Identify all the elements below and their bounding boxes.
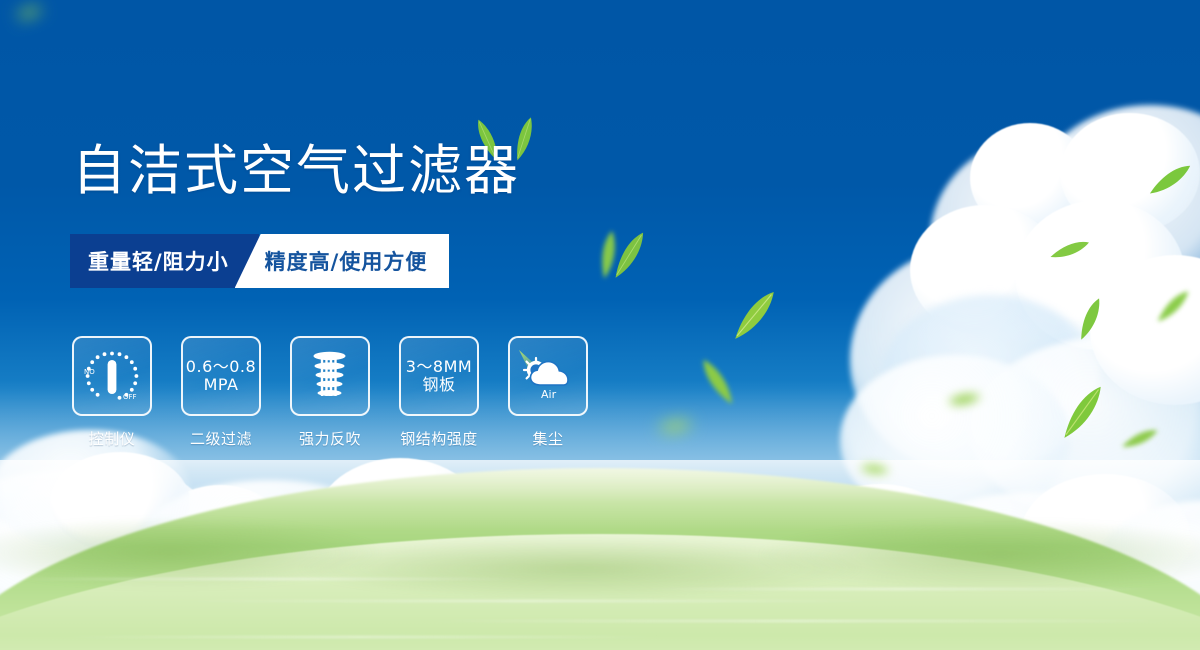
badge-secondary-label: 精度高/使用方便 xyxy=(265,246,428,276)
pressure-text-icon: 0.6～0.8 MPA xyxy=(181,336,261,416)
feature-label-dust-collection: 集尘 xyxy=(508,428,588,449)
leaf-floating-10 xyxy=(946,386,983,414)
feature-item-controller[interactable]: NO OFF 控制仪 xyxy=(72,336,152,449)
leaf-floating-11 xyxy=(657,414,695,440)
badge-secondary: 精度高/使用方便 xyxy=(235,234,450,288)
badge-primary: 重量轻/阻力小 xyxy=(70,234,259,288)
feature-label-controller: 控制仪 xyxy=(72,428,152,449)
tagline-badges: 重量轻/阻力小 精度高/使用方便 xyxy=(70,234,449,288)
cloud-air-icon: Air xyxy=(508,336,588,416)
svg-text:NO: NO xyxy=(84,368,95,376)
filter-cartridge-icon xyxy=(290,336,370,416)
pressure-value: 0.6～0.8 xyxy=(186,358,256,376)
feature-item-backblow[interactable]: 强力反吹 xyxy=(290,336,370,449)
feature-item-dust-collection[interactable]: Air 集尘 xyxy=(508,336,588,449)
feature-item-secondary-filter[interactable]: 0.6～0.8 MPA 二级过滤 xyxy=(181,336,261,449)
feature-label-secondary-filter: 二级过滤 xyxy=(181,428,261,449)
product-banner: 自洁式空气过滤器 重量轻/阻力小 精度高/使用方便 xyxy=(0,0,1200,650)
feature-list: NO OFF 控制仪 0.6～0.8 MPA 二级过滤 xyxy=(72,336,588,449)
svg-text:OFF: OFF xyxy=(123,393,137,401)
steel-plate-text-icon: 3～8MM 钢板 xyxy=(399,336,479,416)
steel-material: 钢板 xyxy=(422,376,455,394)
grass-field xyxy=(0,460,1200,650)
pressure-unit: MPA xyxy=(204,376,239,394)
gauge-icon: NO OFF xyxy=(72,336,152,416)
badge-primary-label: 重量轻/阻力小 xyxy=(88,246,229,276)
banner-title: 自洁式空气过滤器 xyxy=(72,144,520,198)
steel-thickness: 3～8MM xyxy=(406,358,472,376)
feature-label-backblow: 强力反吹 xyxy=(290,428,370,449)
feature-label-steel-strength: 钢结构强度 xyxy=(399,428,479,449)
feature-item-steel-strength[interactable]: 3～8MM 钢板 钢结构强度 xyxy=(399,336,479,449)
svg-text:Air: Air xyxy=(541,388,557,401)
